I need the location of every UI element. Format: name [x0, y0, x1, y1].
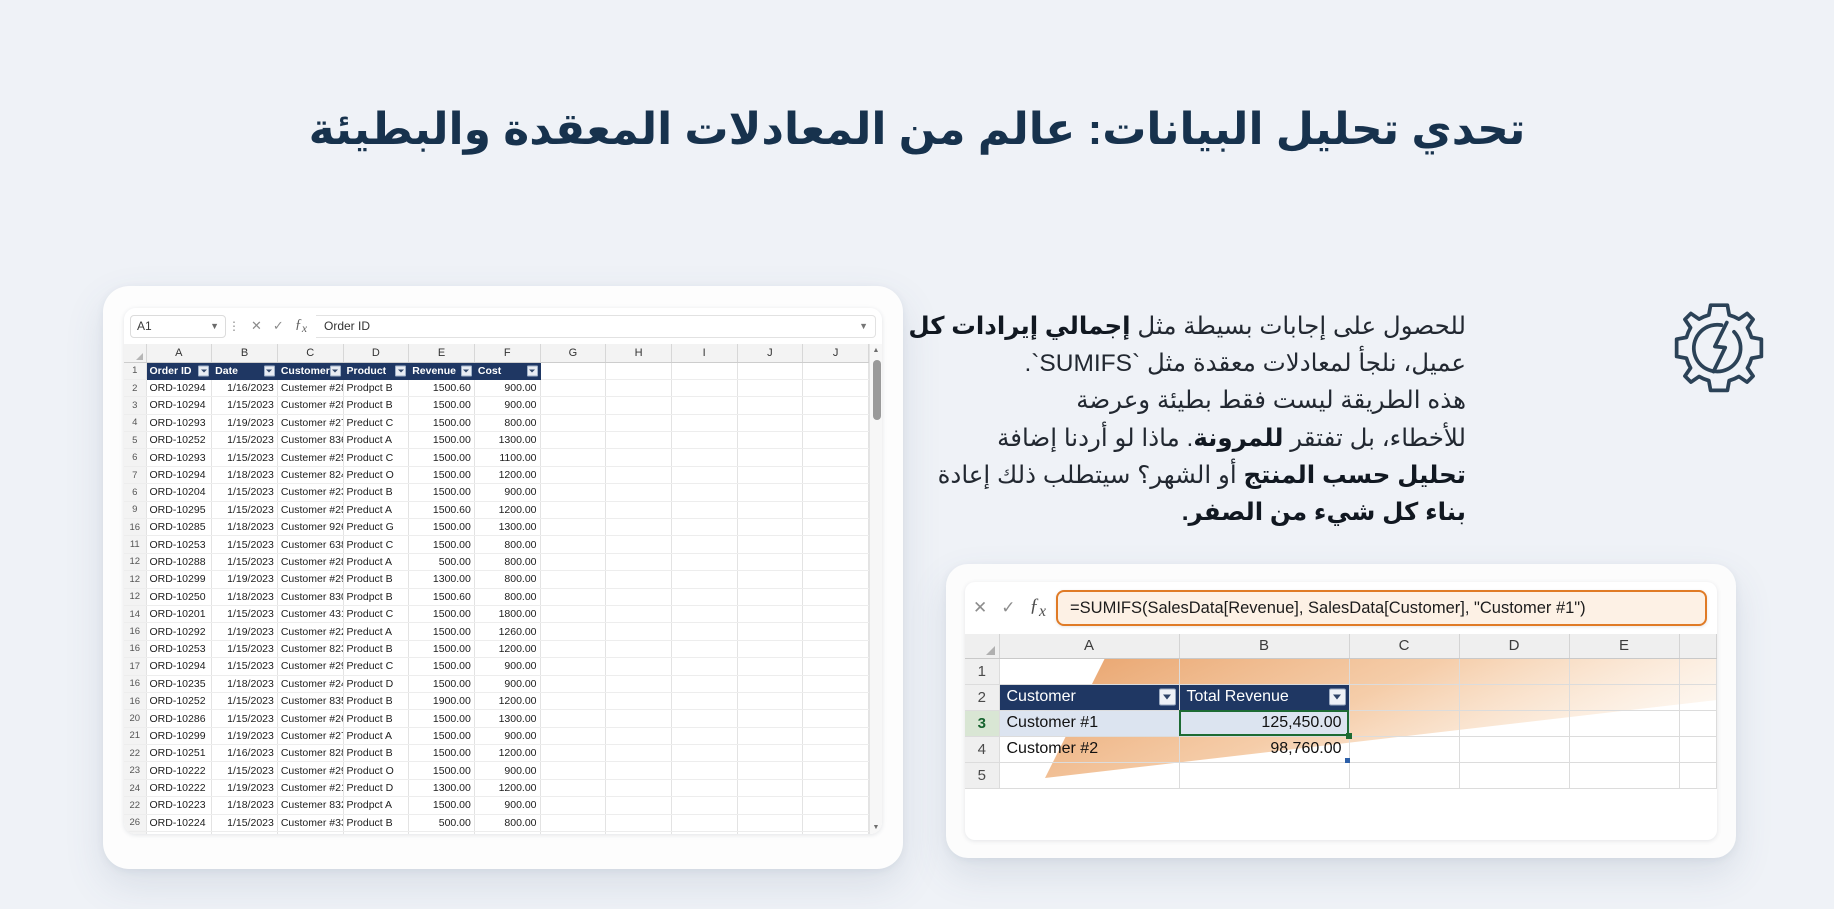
- row-header-5[interactable]: 5: [965, 762, 999, 788]
- cell-product[interactable]: Product D: [343, 675, 409, 692]
- empty-cell[interactable]: [540, 605, 606, 622]
- empty-cell[interactable]: [540, 762, 606, 779]
- cell-order-id[interactable]: ORD-10253: [146, 536, 212, 553]
- empty-cell[interactable]: [671, 605, 737, 622]
- empty-cell[interactable]: [737, 571, 803, 588]
- excel-grid-viewport[interactable]: A B C D E F G H I J J 1Ord: [124, 344, 869, 834]
- filter-dropdown-icon[interactable]: [1329, 689, 1346, 706]
- cell-product[interactable]: Prodpct A: [343, 797, 409, 814]
- cell-date[interactable]: 1/15/2023: [212, 536, 278, 553]
- empty-cell[interactable]: [606, 466, 672, 483]
- cell-date[interactable]: 1/18/2023: [212, 797, 278, 814]
- cell-product[interactable]: Product A: [343, 432, 409, 449]
- empty-cell[interactable]: [540, 553, 606, 570]
- cell-product[interactable]: Product B: [343, 814, 409, 831]
- empty-cell[interactable]: [803, 571, 869, 588]
- cell-B1[interactable]: [1179, 658, 1349, 684]
- cell-date[interactable]: 1/18/2023: [212, 466, 278, 483]
- cell-customer[interactable]: Customer #22: [277, 623, 343, 640]
- cell-customer[interactable]: Customer #29: [277, 571, 343, 588]
- column-header-D[interactable]: D: [343, 344, 409, 362]
- empty-cell[interactable]: [606, 797, 672, 814]
- cell-revenue[interactable]: 1500.00: [409, 623, 475, 640]
- cell-E4[interactable]: [1569, 736, 1679, 762]
- cell-revenue[interactable]: 1900.00: [409, 692, 475, 709]
- cell-date[interactable]: 1/15/2023: [212, 658, 278, 675]
- column-header-A[interactable]: A: [999, 634, 1179, 658]
- empty-cell[interactable]: [671, 379, 737, 396]
- cell-customer[interactable]: Custemer 824: [277, 466, 343, 483]
- empty-cell[interactable]: [737, 397, 803, 414]
- empty-cell[interactable]: [671, 814, 737, 831]
- row-header[interactable]: 26: [124, 814, 146, 831]
- empty-cell[interactable]: [671, 571, 737, 588]
- empty-cell[interactable]: [737, 675, 803, 692]
- cell-customer[interactable]: Custemer 832: [277, 797, 343, 814]
- row-header[interactable]: 12: [124, 588, 146, 605]
- cell-cost[interactable]: 1200.00: [474, 640, 540, 657]
- empty-cell[interactable]: [671, 449, 737, 466]
- cell-cost[interactable]: 1260.00: [474, 623, 540, 640]
- empty-cell[interactable]: [540, 432, 606, 449]
- empty-cell[interactable]: [737, 814, 803, 831]
- cell-product[interactable]: Product B: [343, 484, 409, 501]
- empty-cell[interactable]: [737, 379, 803, 396]
- cell-product[interactable]: Product B: [343, 692, 409, 709]
- empty-cell[interactable]: [803, 553, 869, 570]
- cell-B2-revenue-header[interactable]: Total Revenue: [1179, 684, 1349, 710]
- cell-order-id[interactable]: ORD-10204: [146, 484, 212, 501]
- empty-cell[interactable]: [606, 449, 672, 466]
- fx-icon[interactable]: ƒx: [1030, 595, 1047, 621]
- cell-revenue[interactable]: 1500.00: [409, 466, 475, 483]
- empty-cell[interactable]: [803, 762, 869, 779]
- empty-cell[interactable]: [606, 692, 672, 709]
- empty-cell[interactable]: [737, 692, 803, 709]
- cell-A2-customer-header[interactable]: Customer: [999, 684, 1179, 710]
- cell-product[interactable]: Preduct G: [343, 519, 409, 536]
- cell-revenue[interactable]: 1500.00: [409, 449, 475, 466]
- cell-product[interactable]: Product A: [343, 553, 409, 570]
- empty-cell[interactable]: [606, 414, 672, 431]
- empty-cell[interactable]: [737, 797, 803, 814]
- cell-cost[interactable]: 1300.00: [474, 432, 540, 449]
- row-header[interactable]: 24: [124, 779, 146, 796]
- cell-product[interactable]: Preduct O: [343, 466, 409, 483]
- cell-product[interactable]: Preduct A: [343, 501, 409, 518]
- caret-down-icon[interactable]: ▼: [870, 821, 882, 834]
- cell-B5[interactable]: [1179, 762, 1349, 788]
- cell-product[interactable]: Product O: [343, 762, 409, 779]
- cell-order-id[interactable]: ORD-10252: [146, 432, 212, 449]
- empty-cell[interactable]: [606, 536, 672, 553]
- cell-revenue[interactable]: 1500.00: [409, 762, 475, 779]
- empty-cell[interactable]: [671, 623, 737, 640]
- cell-customer[interactable]: Customer #25: [277, 501, 343, 518]
- cell-revenue[interactable]: 500.00: [409, 814, 475, 831]
- cell-revenue[interactable]: 1500.60: [409, 501, 475, 518]
- cell-D4[interactable]: [1459, 736, 1569, 762]
- formula-input[interactable]: Order ID ▼: [316, 315, 876, 338]
- formula-input[interactable]: =SUMIFS(SalesData[Revenue], SalesData[Cu…: [1056, 590, 1707, 626]
- cell-A4-customer[interactable]: Customer #2: [999, 736, 1179, 762]
- cell-date[interactable]: 1/15/2023: [212, 432, 278, 449]
- empty-cell[interactable]: [606, 658, 672, 675]
- filter-dropdown-icon[interactable]: [198, 365, 209, 376]
- empty-cell[interactable]: [540, 727, 606, 744]
- cell-cost[interactable]: 1800.00: [474, 605, 540, 622]
- cell-D2[interactable]: [1459, 684, 1569, 710]
- empty-cell[interactable]: [540, 379, 606, 396]
- row-header[interactable]: 14: [124, 605, 146, 622]
- empty-cell[interactable]: [737, 466, 803, 483]
- column-title-product[interactable]: Product: [343, 362, 409, 379]
- cell-date[interactable]: 1/15/2023: [212, 449, 278, 466]
- empty-cell[interactable]: [540, 692, 606, 709]
- cell-date[interactable]: 1/15/2023: [212, 397, 278, 414]
- cell-customer[interactable]: Customer #28: [277, 553, 343, 570]
- cell-order-id[interactable]: ORD-10293: [146, 414, 212, 431]
- empty-cell[interactable]: [803, 675, 869, 692]
- cell-order-id[interactable]: ORD-10223: [146, 797, 212, 814]
- empty-cell[interactable]: [606, 745, 672, 762]
- cell-product[interactable]: Preduct C: [343, 658, 409, 675]
- cell-revenue[interactable]: 1500.00: [409, 745, 475, 762]
- row-header[interactable]: 16: [124, 519, 146, 536]
- empty-cell[interactable]: [737, 832, 803, 834]
- cell-B3-total-revenue[interactable]: 125,450.00: [1179, 710, 1349, 736]
- empty-cell[interactable]: [737, 762, 803, 779]
- cell-customer[interactable]: Customer #26: [277, 710, 343, 727]
- cell-cost[interactable]: 800.00: [474, 571, 540, 588]
- empty-cell[interactable]: [803, 623, 869, 640]
- empty-cell[interactable]: [540, 658, 606, 675]
- empty-cell[interactable]: [803, 536, 869, 553]
- row-header[interactable]: 16: [124, 623, 146, 640]
- cell-customer[interactable]: Custemer #28: [277, 379, 343, 396]
- empty-cell[interactable]: [671, 727, 737, 744]
- empty-cell[interactable]: [606, 814, 672, 831]
- row-header[interactable]: 3: [124, 397, 146, 414]
- cell-customer[interactable]: Customer #27: [277, 727, 343, 744]
- cell-customer[interactable]: Customer 835: [277, 692, 343, 709]
- row-header[interactable]: 9: [124, 501, 146, 518]
- cell-product[interactable]: Product A: [343, 727, 409, 744]
- empty-cell[interactable]: [803, 814, 869, 831]
- cell-date[interactable]: 1/18/2023: [212, 588, 278, 605]
- cell-date[interactable]: 1/15/2023: [212, 640, 278, 657]
- cell-order-id[interactable]: ORD-10250: [146, 588, 212, 605]
- cell-product[interactable]: Product C: [343, 449, 409, 466]
- empty-cell[interactable]: [540, 745, 606, 762]
- cell-D3[interactable]: [1459, 710, 1569, 736]
- cell-revenue[interactable]: 1500.00: [409, 832, 475, 834]
- cell-customer[interactable]: Customer 638: [277, 536, 343, 553]
- cell-cost[interactable]: 900.00: [474, 832, 540, 834]
- cell-E5[interactable]: [1569, 762, 1679, 788]
- empty-cell[interactable]: [671, 466, 737, 483]
- empty-cell[interactable]: [803, 710, 869, 727]
- row-header-3[interactable]: 3: [965, 710, 999, 736]
- empty-cell[interactable]: [737, 710, 803, 727]
- empty-cell[interactable]: [671, 745, 737, 762]
- empty-cell[interactable]: [737, 623, 803, 640]
- cell-product[interactable]: Product C: [343, 605, 409, 622]
- cell-customer[interactable]: Customer 926: [277, 519, 343, 536]
- empty-cell[interactable]: [671, 762, 737, 779]
- row-header[interactable]: 23: [124, 762, 146, 779]
- column-header-B[interactable]: B: [1179, 634, 1349, 658]
- confirm-icon[interactable]: ✓: [1001, 598, 1015, 618]
- empty-cell[interactable]: [606, 605, 672, 622]
- cell-cost[interactable]: 800.00: [474, 414, 540, 431]
- empty-cell[interactable]: [671, 362, 737, 379]
- cell-customer[interactable]: Custemer #25: [277, 449, 343, 466]
- cell-revenue[interactable]: 1500.00: [409, 432, 475, 449]
- cell-date[interactable]: 1/15/2023: [212, 832, 278, 834]
- empty-cell[interactable]: [737, 658, 803, 675]
- cell-revenue[interactable]: 1500.00: [409, 397, 475, 414]
- empty-cell[interactable]: [540, 466, 606, 483]
- row-header[interactable]: 5: [124, 432, 146, 449]
- row-header[interactable]: 6: [124, 484, 146, 501]
- empty-cell[interactable]: [606, 501, 672, 518]
- cell-customer[interactable]: Customer #29: [277, 762, 343, 779]
- empty-cell[interactable]: [803, 727, 869, 744]
- cell-revenue[interactable]: 1500.00: [409, 710, 475, 727]
- empty-cell[interactable]: [803, 658, 869, 675]
- cell-product[interactable]: Product B: [343, 640, 409, 657]
- row-header[interactable]: 22: [124, 745, 146, 762]
- empty-cell[interactable]: [540, 414, 606, 431]
- cell-date[interactable]: 1/16/2023: [212, 745, 278, 762]
- row-header[interactable]: 22: [124, 797, 146, 814]
- empty-cell[interactable]: [737, 449, 803, 466]
- cell-cost[interactable]: 900.00: [474, 397, 540, 414]
- cell-cost[interactable]: 1300.00: [474, 710, 540, 727]
- cell-order-id[interactable]: ORD-10294: [146, 379, 212, 396]
- cell-order-id[interactable]: ORD-10235: [146, 675, 212, 692]
- empty-cell[interactable]: [737, 501, 803, 518]
- column-header-H[interactable]: H: [606, 344, 672, 362]
- cell-E1[interactable]: [1569, 658, 1679, 684]
- cell-revenue[interactable]: 1500.00: [409, 727, 475, 744]
- empty-cell[interactable]: [606, 832, 672, 834]
- empty-cell[interactable]: [671, 501, 737, 518]
- cell-order-id[interactable]: ORD-10293: [146, 449, 212, 466]
- empty-cell[interactable]: [803, 640, 869, 657]
- confirm-icon[interactable]: ✓: [273, 318, 284, 334]
- empty-cell[interactable]: [737, 588, 803, 605]
- cell-order-id[interactable]: ORD-10299: [146, 727, 212, 744]
- cell-date[interactable]: 1/15/2023: [212, 501, 278, 518]
- cell-cost[interactable]: 900.00: [474, 797, 540, 814]
- empty-cell[interactable]: [737, 553, 803, 570]
- cell-A3-customer[interactable]: Customer #1: [999, 710, 1179, 736]
- cell-product[interactable]: Product B: [343, 397, 409, 414]
- row-header-1[interactable]: 1: [124, 362, 146, 379]
- cell-date[interactable]: 1/15/2023: [212, 710, 278, 727]
- column-header-F[interactable]: F: [474, 344, 540, 362]
- column-title-revenue[interactable]: Revenue: [409, 362, 475, 379]
- empty-cell[interactable]: [803, 832, 869, 834]
- empty-cell[interactable]: [540, 832, 606, 834]
- cell-revenue[interactable]: 1500.00: [409, 675, 475, 692]
- empty-cell[interactable]: [737, 640, 803, 657]
- row-header[interactable]: 12: [124, 553, 146, 570]
- empty-cell[interactable]: [671, 640, 737, 657]
- cell-order-id[interactable]: ORD-10294: [146, 658, 212, 675]
- cell-cost[interactable]: 800.00: [474, 588, 540, 605]
- row-header[interactable]: 16: [124, 640, 146, 657]
- cell-order-id[interactable]: ORD-10201: [146, 605, 212, 622]
- empty-cell[interactable]: [540, 397, 606, 414]
- empty-cell[interactable]: [671, 692, 737, 709]
- empty-cell[interactable]: [606, 588, 672, 605]
- cell-E3[interactable]: [1569, 710, 1679, 736]
- empty-cell[interactable]: [737, 745, 803, 762]
- cell-E2[interactable]: [1569, 684, 1679, 710]
- cell-product[interactable]: Prodpct B: [343, 588, 409, 605]
- empty-cell[interactable]: [540, 484, 606, 501]
- chevron-down-icon[interactable]: ▼: [210, 321, 219, 331]
- empty-cell[interactable]: [540, 501, 606, 518]
- cell-D1[interactable]: [1459, 658, 1569, 684]
- cell-order-id[interactable]: ORD-10294: [146, 466, 212, 483]
- cell-customer[interactable]: Customer #33: [277, 814, 343, 831]
- empty-cell[interactable]: [737, 484, 803, 501]
- row-header-4[interactable]: 4: [965, 736, 999, 762]
- cell-order-id[interactable]: ORD-10222: [146, 762, 212, 779]
- row-header[interactable]: 11: [124, 536, 146, 553]
- empty-cell[interactable]: [803, 745, 869, 762]
- empty-cell[interactable]: [540, 588, 606, 605]
- cell-revenue[interactable]: 1500.00: [409, 414, 475, 431]
- row-header-2[interactable]: 2: [965, 684, 999, 710]
- empty-cell[interactable]: [803, 797, 869, 814]
- cell-cost[interactable]: 1200.00: [474, 501, 540, 518]
- cell-C2[interactable]: [1349, 684, 1459, 710]
- empty-cell[interactable]: [540, 362, 606, 379]
- cell-product[interactable]: Product B: [343, 571, 409, 588]
- empty-cell[interactable]: [606, 675, 672, 692]
- cell-date[interactable]: 1/18/2023: [212, 519, 278, 536]
- cell-revenue[interactable]: 1500.00: [409, 536, 475, 553]
- empty-cell[interactable]: [737, 605, 803, 622]
- cell-order-id[interactable]: ORD-10294: [146, 397, 212, 414]
- cell-customer[interactable]: Customer 830: [277, 588, 343, 605]
- cell-cost[interactable]: 1200.00: [474, 466, 540, 483]
- cell-order-id[interactable]: ORD-10286: [146, 710, 212, 727]
- fx-icon[interactable]: ƒx: [295, 317, 307, 335]
- cell-customer[interactable]: Customer #27: [277, 414, 343, 431]
- empty-cell[interactable]: [671, 414, 737, 431]
- column-header-I[interactable]: I: [671, 344, 737, 362]
- cell-date[interactable]: 1/15/2023: [212, 484, 278, 501]
- cell-cost[interactable]: 1100.00: [474, 449, 540, 466]
- cell-order-id[interactable]: ORD-10285: [146, 519, 212, 536]
- cell-revenue[interactable]: 1500.00: [409, 484, 475, 501]
- filter-dropdown-icon[interactable]: [395, 365, 406, 376]
- select-all-corner[interactable]: [965, 634, 999, 658]
- cell-revenue[interactable]: 1300.00: [409, 571, 475, 588]
- cell-customer[interactable]: Customer #28: [277, 397, 343, 414]
- cell-order-id[interactable]: ORD-10299: [146, 571, 212, 588]
- row-header[interactable]: 21: [124, 727, 146, 744]
- cell-A5[interactable]: [999, 762, 1179, 788]
- cell-order-id[interactable]: ORD-10252: [146, 692, 212, 709]
- cell-customer[interactable]: Customer 431: [277, 605, 343, 622]
- empty-cell[interactable]: [737, 414, 803, 431]
- cell-product[interactable]: Product B: [343, 745, 409, 762]
- cell-customer[interactable]: Customer 823: [277, 640, 343, 657]
- cell-C4[interactable]: [1349, 736, 1459, 762]
- column-header-C[interactable]: C: [1349, 634, 1459, 658]
- empty-cell[interactable]: [606, 432, 672, 449]
- cell-revenue[interactable]: 1500.00: [409, 519, 475, 536]
- row-header[interactable]: 20: [124, 710, 146, 727]
- cell-customer[interactable]: Customer #29: [277, 658, 343, 675]
- column-header-A[interactable]: A: [146, 344, 212, 362]
- column-header-G[interactable]: G: [540, 344, 606, 362]
- cell-C5[interactable]: [1349, 762, 1459, 788]
- cell-customer[interactable]: Customer #24: [277, 675, 343, 692]
- filter-dropdown-icon[interactable]: [264, 365, 275, 376]
- cell-product[interactable]: Product B: [343, 710, 409, 727]
- cell-cost[interactable]: 1200.00: [474, 745, 540, 762]
- cell-revenue[interactable]: 500.00: [409, 553, 475, 570]
- column-title-cost[interactable]: Cost: [474, 362, 540, 379]
- empty-cell[interactable]: [671, 588, 737, 605]
- empty-cell[interactable]: [540, 797, 606, 814]
- cell-cost[interactable]: 900.00: [474, 379, 540, 396]
- empty-cell[interactable]: [671, 779, 737, 796]
- empty-cell[interactable]: [540, 536, 606, 553]
- cell-cost[interactable]: 800.00: [474, 814, 540, 831]
- cell-date[interactable]: 1/15/2023: [212, 692, 278, 709]
- row-header[interactable]: 12: [124, 571, 146, 588]
- cell-date[interactable]: 1/19/2023: [212, 727, 278, 744]
- empty-cell[interactable]: [671, 553, 737, 570]
- cell-D5[interactable]: [1459, 762, 1569, 788]
- cell-customer[interactable]: Oustomer #24: [277, 832, 343, 834]
- empty-cell[interactable]: [803, 588, 869, 605]
- empty-cell[interactable]: [540, 779, 606, 796]
- cell-revenue[interactable]: 1500.60: [409, 588, 475, 605]
- filter-dropdown-icon[interactable]: [527, 365, 538, 376]
- filter-dropdown-icon[interactable]: [330, 365, 341, 376]
- cell-date[interactable]: 1/19/2023: [212, 414, 278, 431]
- row-header-1[interactable]: 1: [965, 658, 999, 684]
- cancel-icon[interactable]: ✕: [251, 318, 262, 334]
- row-header[interactable]: 16: [124, 692, 146, 709]
- cell-order-id[interactable]: ORD-10224: [146, 832, 212, 834]
- cell-date[interactable]: 1/15/2023: [212, 762, 278, 779]
- cell-customer[interactable]: Customer 828: [277, 745, 343, 762]
- filter-dropdown-icon[interactable]: [461, 365, 472, 376]
- empty-cell[interactable]: [606, 553, 672, 570]
- cell-date[interactable]: 1/19/2023: [212, 623, 278, 640]
- empty-cell[interactable]: [671, 536, 737, 553]
- column-header-J[interactable]: J: [737, 344, 803, 362]
- empty-cell[interactable]: [540, 675, 606, 692]
- column-title-customer[interactable]: Customer: [277, 362, 343, 379]
- cell-customer[interactable]: Customer #23: [277, 484, 343, 501]
- empty-cell[interactable]: [737, 536, 803, 553]
- cell-A1[interactable]: [999, 658, 1179, 684]
- cell-product[interactable]: Preduct D: [343, 779, 409, 796]
- row-header[interactable]: 27: [124, 832, 146, 834]
